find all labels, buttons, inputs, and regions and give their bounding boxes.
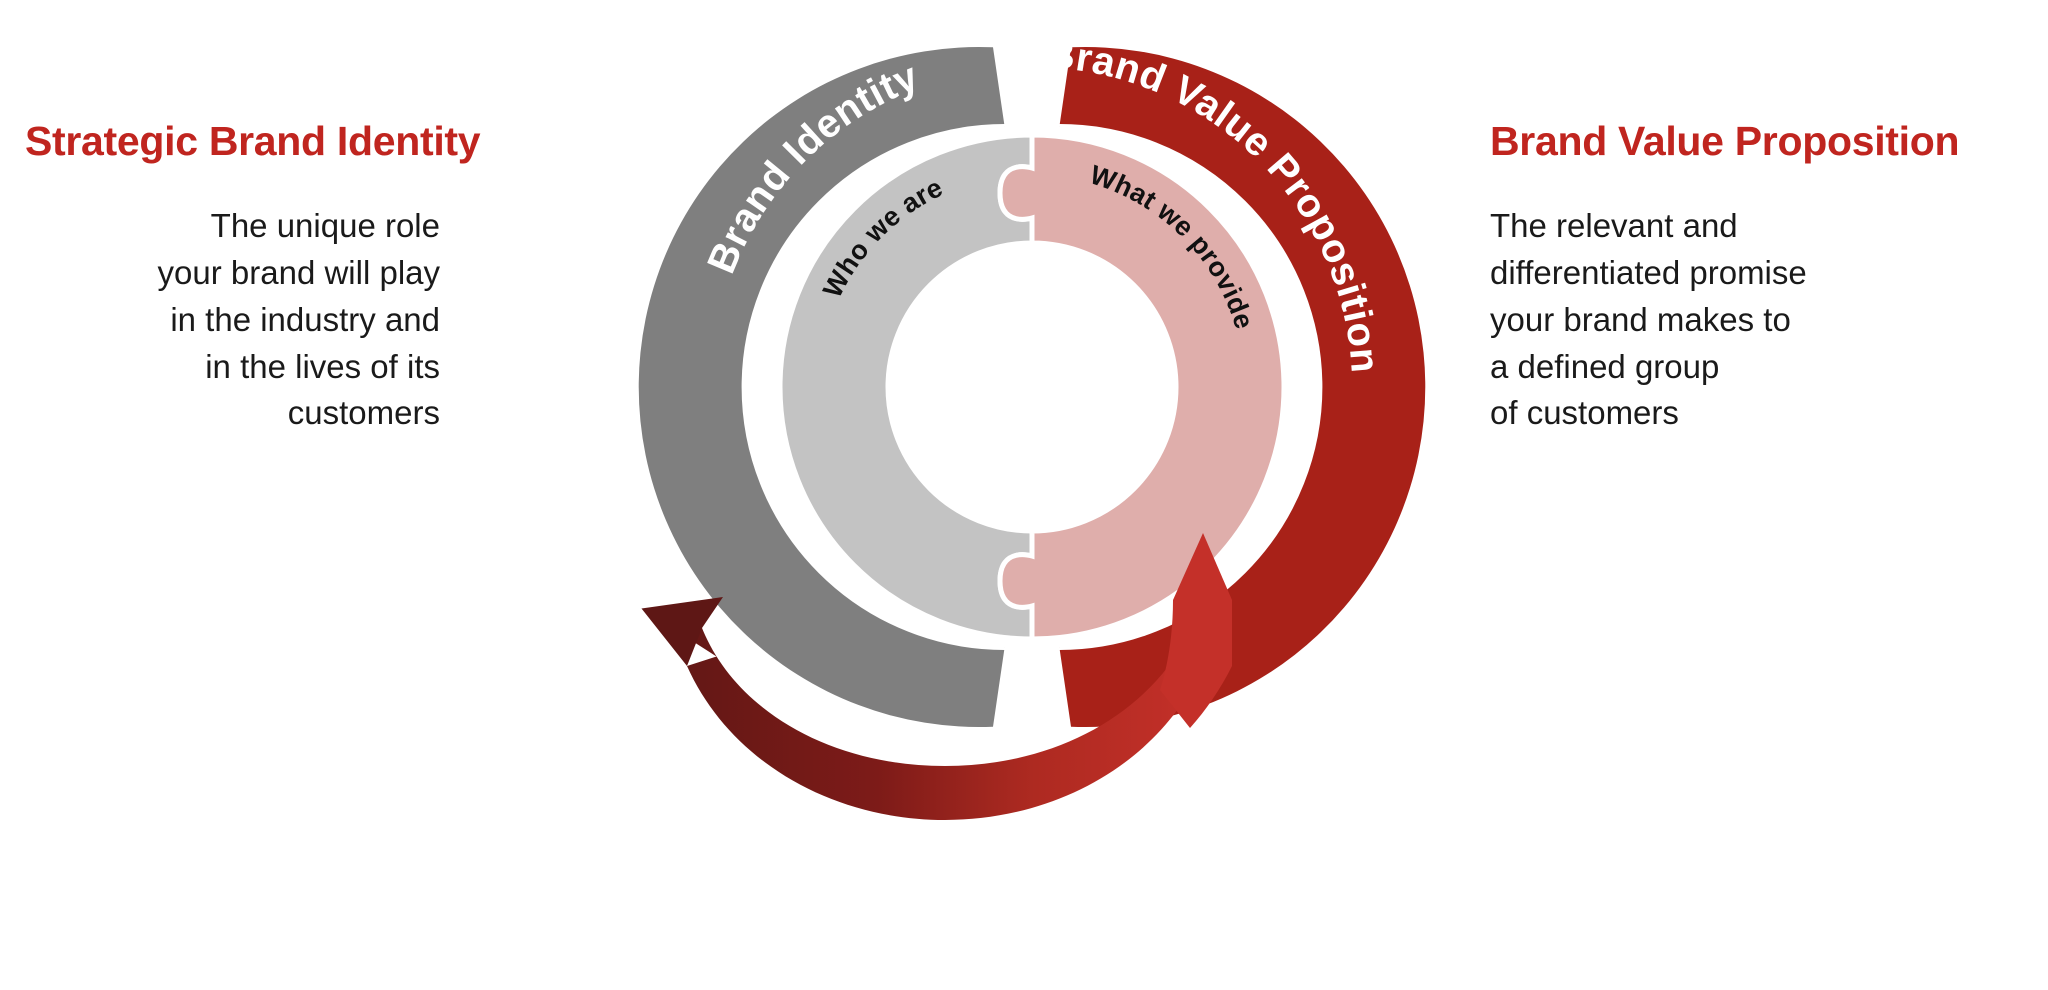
right-panel: Brand Value Proposition The relevant and… [1490,120,2048,437]
left-panel: Strategic Brand Identity The unique role… [0,120,600,437]
cycle-arrow-head-left [642,597,724,666]
puzzle-ring-diagram: Brand Identity Brand Value Proposition W… [640,0,1440,990]
left-panel-title: Strategic Brand Identity [0,120,600,163]
ring-group [639,47,1426,727]
diagram-canvas: Strategic Brand Identity The unique role… [0,0,2048,990]
right-panel-body: The relevant and differentiated promise … [1490,203,2048,437]
ring-center-hole [888,243,1176,531]
right-panel-title: Brand Value Proposition [1490,120,2048,163]
left-panel-body: The unique role your brand will play in … [0,203,600,437]
